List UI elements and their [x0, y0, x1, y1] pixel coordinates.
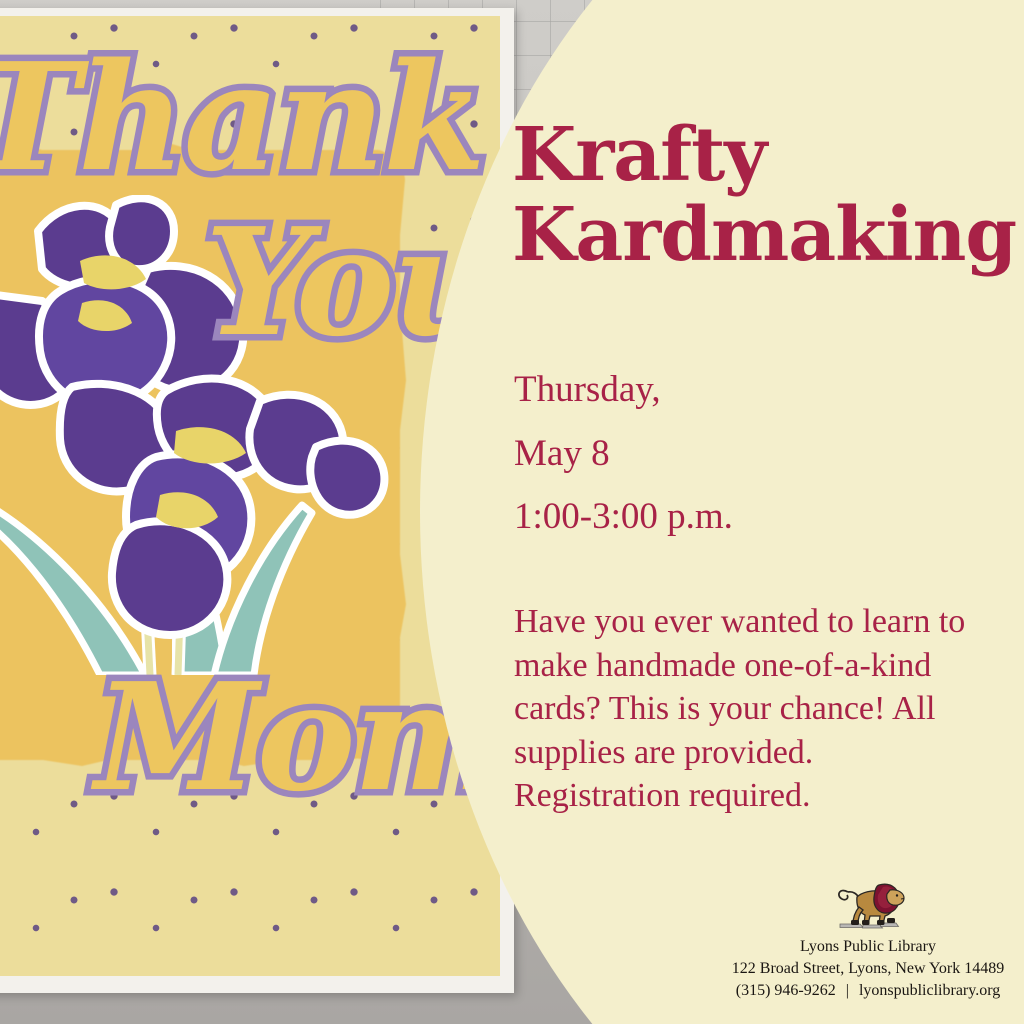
event-date: May 8: [514, 422, 984, 486]
title-line-2: Kardmaking: [512, 196, 1002, 276]
event-datetime: Thursday, May 8 1:00-3:00 p.m.: [514, 358, 984, 549]
lion-logo-icon: [831, 870, 905, 932]
lion-logo: [712, 870, 1024, 936]
poster-canvas: Thank You Mom Krafty Kardmaking Thursday…: [0, 0, 1024, 1024]
footer-website[interactable]: lyonspubliclibrary.org: [859, 982, 1000, 999]
event-description: Have you ever wanted to learn to make ha…: [514, 600, 984, 818]
event-time: 1:00-3:00 p.m.: [514, 485, 984, 549]
footer-text-block: Lyons Public Library 122 Broad Street, L…: [712, 936, 1024, 1002]
content-column: Krafty Kardmaking Thursday, May 8 1:00-3…: [512, 0, 1024, 1024]
footer-separator: |: [840, 982, 855, 999]
card-word-thank: Thank: [0, 30, 484, 204]
footer-contact: (315) 946-9262 | lyonspubliclibrary.org: [712, 980, 1024, 1002]
title-line-1: Krafty: [512, 116, 1002, 196]
footer-address: 122 Broad Street, Lyons, New York 14489: [712, 958, 1024, 980]
library-footer: Lyons Public Library 122 Broad Street, L…: [712, 870, 1024, 1002]
event-title: Krafty Kardmaking: [512, 116, 1002, 276]
event-day: Thursday,: [514, 358, 984, 422]
footer-phone: (315) 946-9262: [736, 982, 836, 999]
footer-organization: Lyons Public Library: [712, 936, 1024, 958]
